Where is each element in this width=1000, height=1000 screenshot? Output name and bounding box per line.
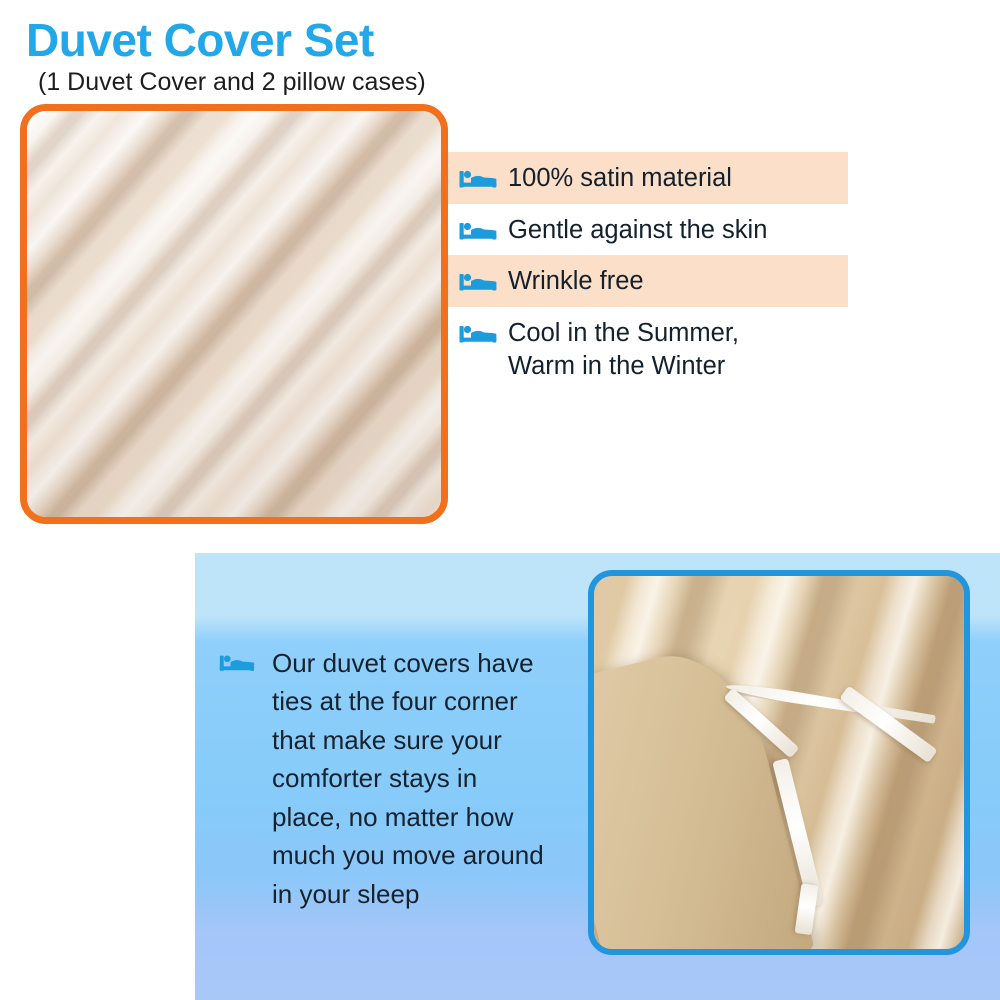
feature-item: Wrinkle free [448,255,848,307]
ties-description-block: Our duvet covers have ties at the four c… [218,644,578,913]
feature-item: Gentle against the skin [448,204,848,256]
feature-item: Cool in the Summer, Warm in the Winter [448,307,848,391]
feature-item: 100% satin material [448,152,848,204]
satin-shading-layer [27,111,441,517]
bed-icon [458,320,498,348]
feature-label: Gentle against the skin [508,213,767,247]
satin-fabric-photo [20,104,448,524]
page-subtitle: (1 Duvet Cover and 2 pillow cases) [38,70,426,95]
bed-icon [218,650,256,676]
infographic-page: Duvet Cover Set (1 Duvet Cover and 2 pil… [0,0,1000,1000]
feature-label: 100% satin material [508,161,732,195]
bed-icon [458,268,498,296]
feature-label: Cool in the Summer, Warm in the Winter [508,316,739,382]
page-title: Duvet Cover Set [26,17,374,63]
bed-icon [458,217,498,245]
feature-list: 100% satin material Gentle against the s… [448,152,848,391]
feature-label: Wrinkle free [508,264,644,298]
duvet-ties-photo [588,570,970,955]
bed-icon [458,165,498,193]
ties-description-text: Our duvet covers have ties at the four c… [272,644,544,913]
